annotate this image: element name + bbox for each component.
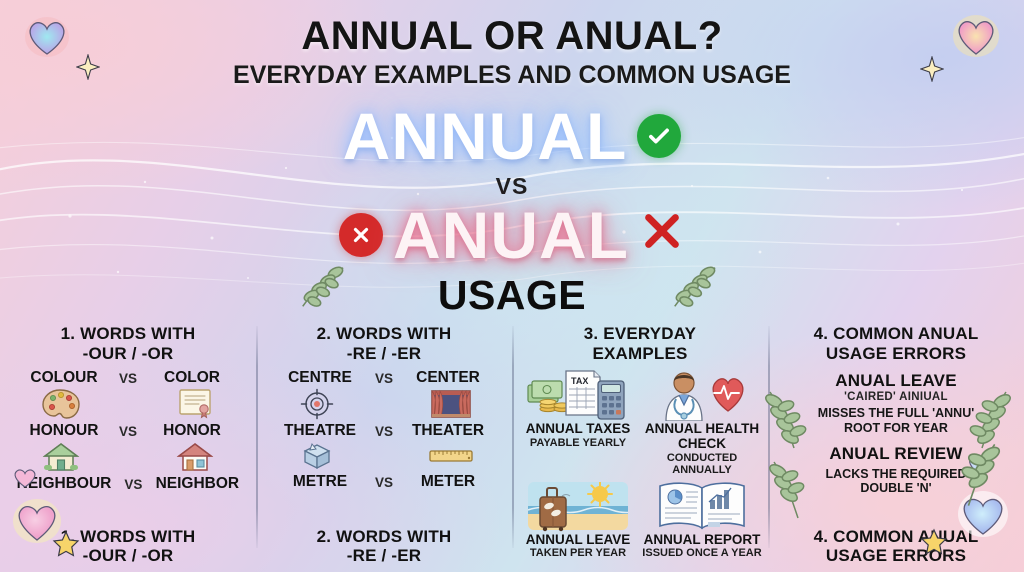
- red-house-icon: [153, 441, 237, 473]
- column-footer: 2. WORDS WITH-RE / -ER: [256, 527, 512, 566]
- columns-container: 1. WORDS WITH-OUR / -OR COLOUR VS COLOR: [0, 320, 1024, 572]
- hero-comparison: ANNUAL VS ANUAL USAGE: [0, 103, 1024, 319]
- x-circle-icon: [339, 213, 383, 257]
- word-pair-row: METRE VS METER: [262, 473, 506, 491]
- word-american: CENTER: [406, 369, 490, 387]
- hero-incorrect-row: ANUAL: [0, 202, 1024, 268]
- hero-usage-label: USAGE: [0, 272, 1024, 319]
- tax-money-calculator-icon: TAX: [518, 367, 638, 421]
- word-pair-row: NEIGHBOUR VS NEIGHBOR: [6, 475, 250, 493]
- vs-label: VS: [119, 371, 137, 386]
- word-pair-icons: [262, 388, 506, 420]
- target-icon: [275, 388, 359, 420]
- column-title: 1. WORDS WITH-OUR / -OR: [6, 324, 250, 363]
- example-desc: PAYABLE YEARLY: [518, 437, 638, 449]
- column-title: 2. WORDS WITH-RE / -ER: [262, 324, 506, 363]
- vs-label: VS: [375, 475, 393, 490]
- hero-vs-label: VS: [0, 173, 1024, 200]
- example-name: ANNUAL REPORT: [642, 533, 762, 548]
- word-pair-row: COLOUR VS COLOR: [6, 369, 250, 387]
- sparkle-icon: [76, 54, 100, 80]
- word-american: COLOR: [150, 369, 234, 387]
- word-american: HONOR: [150, 422, 234, 440]
- word-british: HONOUR: [22, 422, 106, 440]
- word-pair-row: HONOUR VS HONOR: [6, 422, 250, 440]
- example-item: ANNUAL LEAVE TAKEN PER YEAR: [518, 478, 638, 560]
- olive-branch-icon: [665, 262, 723, 314]
- example-desc: CONDUCTED ANNUALLY: [642, 452, 762, 476]
- word-british: THEATRE: [278, 422, 362, 440]
- vs-label: VS: [124, 477, 142, 492]
- word-pair-row: CENTRE VS CENTER: [262, 369, 506, 387]
- olive-branch-icon: [764, 458, 820, 522]
- pink-heart-icon: [12, 466, 38, 490]
- example-desc: TAKEN PER YEAR: [518, 547, 638, 559]
- sparkle-icon: [920, 56, 944, 82]
- column-everyday-examples: 3. EVERYDAYEXAMPLES: [512, 320, 768, 572]
- word-pair-icons: [6, 441, 250, 473]
- word-british: METRE: [278, 473, 362, 491]
- column-words-re-er: 2. WORDS WITH-RE / -ER CENTRE VS CENTER: [256, 320, 512, 572]
- word-pair-row: THEATRE VS THEATER: [262, 422, 506, 440]
- example-grid: TAX: [518, 367, 762, 559]
- svg-text:TAX: TAX: [571, 376, 588, 386]
- pink-heart-icon: [952, 14, 1000, 58]
- example-item: TAX: [518, 367, 638, 475]
- box-icon: [275, 441, 359, 471]
- example-name: ANNUAL TAXES: [518, 422, 638, 437]
- word-pair-list: CENTRE VS CENTER: [262, 369, 506, 491]
- suitcase-beach-icon: [518, 478, 638, 532]
- example-name: ANNUAL LEAVE: [518, 533, 638, 548]
- hero-incorrect-word: ANUAL: [393, 202, 629, 268]
- word-american: METER: [406, 473, 490, 491]
- word-american: NEIGHBOR: [155, 475, 239, 493]
- word-pair-icons: [262, 441, 506, 471]
- check-circle-icon: [637, 114, 681, 158]
- blue-heart-icon: [24, 16, 70, 58]
- word-british: CENTRE: [278, 369, 362, 387]
- page-title: ANNUAL OR ANUAL?: [0, 14, 1024, 59]
- hero-correct-word: ANNUAL: [343, 103, 628, 169]
- palette-icon: [19, 388, 103, 420]
- theater-curtain-icon: [409, 388, 493, 420]
- column-title: 4. COMMON ANUALUSAGE ERRORS: [774, 324, 1018, 363]
- word-pair-icons: [6, 388, 250, 420]
- word-pair-list: COLOUR VS COLOR: [6, 369, 250, 493]
- vs-label: VS: [375, 371, 393, 386]
- hero-correct-row: ANNUAL: [0, 103, 1024, 169]
- olive-branch-icon: [760, 388, 816, 452]
- header: ANNUAL OR ANUAL? EVERYDAY EXAMPLES AND C…: [0, 14, 1024, 90]
- page-subtitle: EVERYDAY EXAMPLES AND COMMON USAGE: [0, 61, 1024, 90]
- x-mark-icon: [639, 208, 685, 262]
- olive-branch-icon: [944, 440, 1006, 510]
- vs-label: VS: [119, 424, 137, 439]
- example-item: ANNUAL REPORT ISSUED ONCE A YEAR: [642, 478, 762, 560]
- doctor-heart-icon: [642, 367, 762, 421]
- vs-label: VS: [375, 424, 393, 439]
- example-item: ANNUAL HEALTH CHECK CONDUCTED ANNUALLY: [642, 367, 762, 475]
- example-name: ANNUAL HEALTH CHECK: [642, 422, 762, 451]
- column-title: 3. EVERYDAYEXAMPLES: [518, 324, 762, 363]
- star-icon: [920, 528, 948, 556]
- word-american: THEATER: [406, 422, 490, 440]
- word-british: COLOUR: [22, 369, 106, 387]
- olive-branch-icon: [293, 262, 351, 314]
- certificate-icon: [153, 388, 237, 420]
- example-desc: ISSUED ONCE A YEAR: [642, 547, 762, 559]
- ruler-icon: [409, 443, 493, 469]
- star-icon: [52, 530, 80, 558]
- open-report-book-icon: [642, 478, 762, 532]
